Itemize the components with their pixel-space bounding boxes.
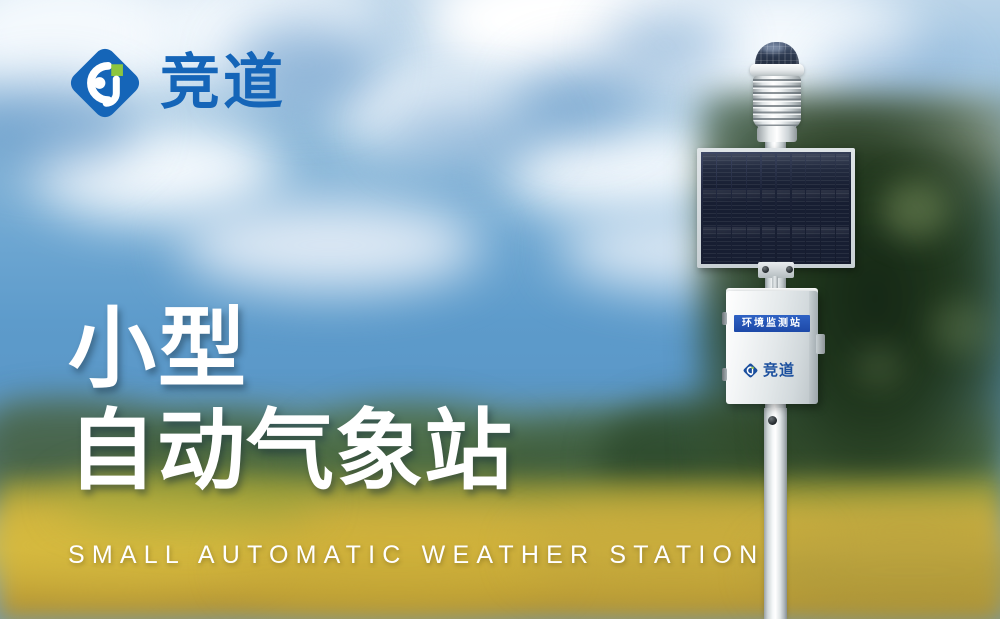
page-title: 小型 自动气象站 [68,298,513,502]
page-subtitle: SMALL AUTOMATIC WEATHER STATION [68,541,764,570]
cloud-shadow-shape [380,95,550,165]
jingdao-diamond-logo-icon [66,44,144,122]
cloud-shadow-shape [600,10,730,80]
headline-line-2: 自动气象站 [68,400,513,502]
tree-highlight-shape [880,180,950,240]
brand-name: 竞道 [160,53,286,113]
cloud-shape [180,200,480,290]
product-banner: 环境监测站 竞道 竞道 小型 [0,0,1000,619]
tree-highlight-shape [855,345,903,389]
brand-logo[interactable]: 竞道 [66,44,286,122]
tree-highlight-shape [930,300,990,355]
headline-line-1: 小型 [68,298,513,400]
